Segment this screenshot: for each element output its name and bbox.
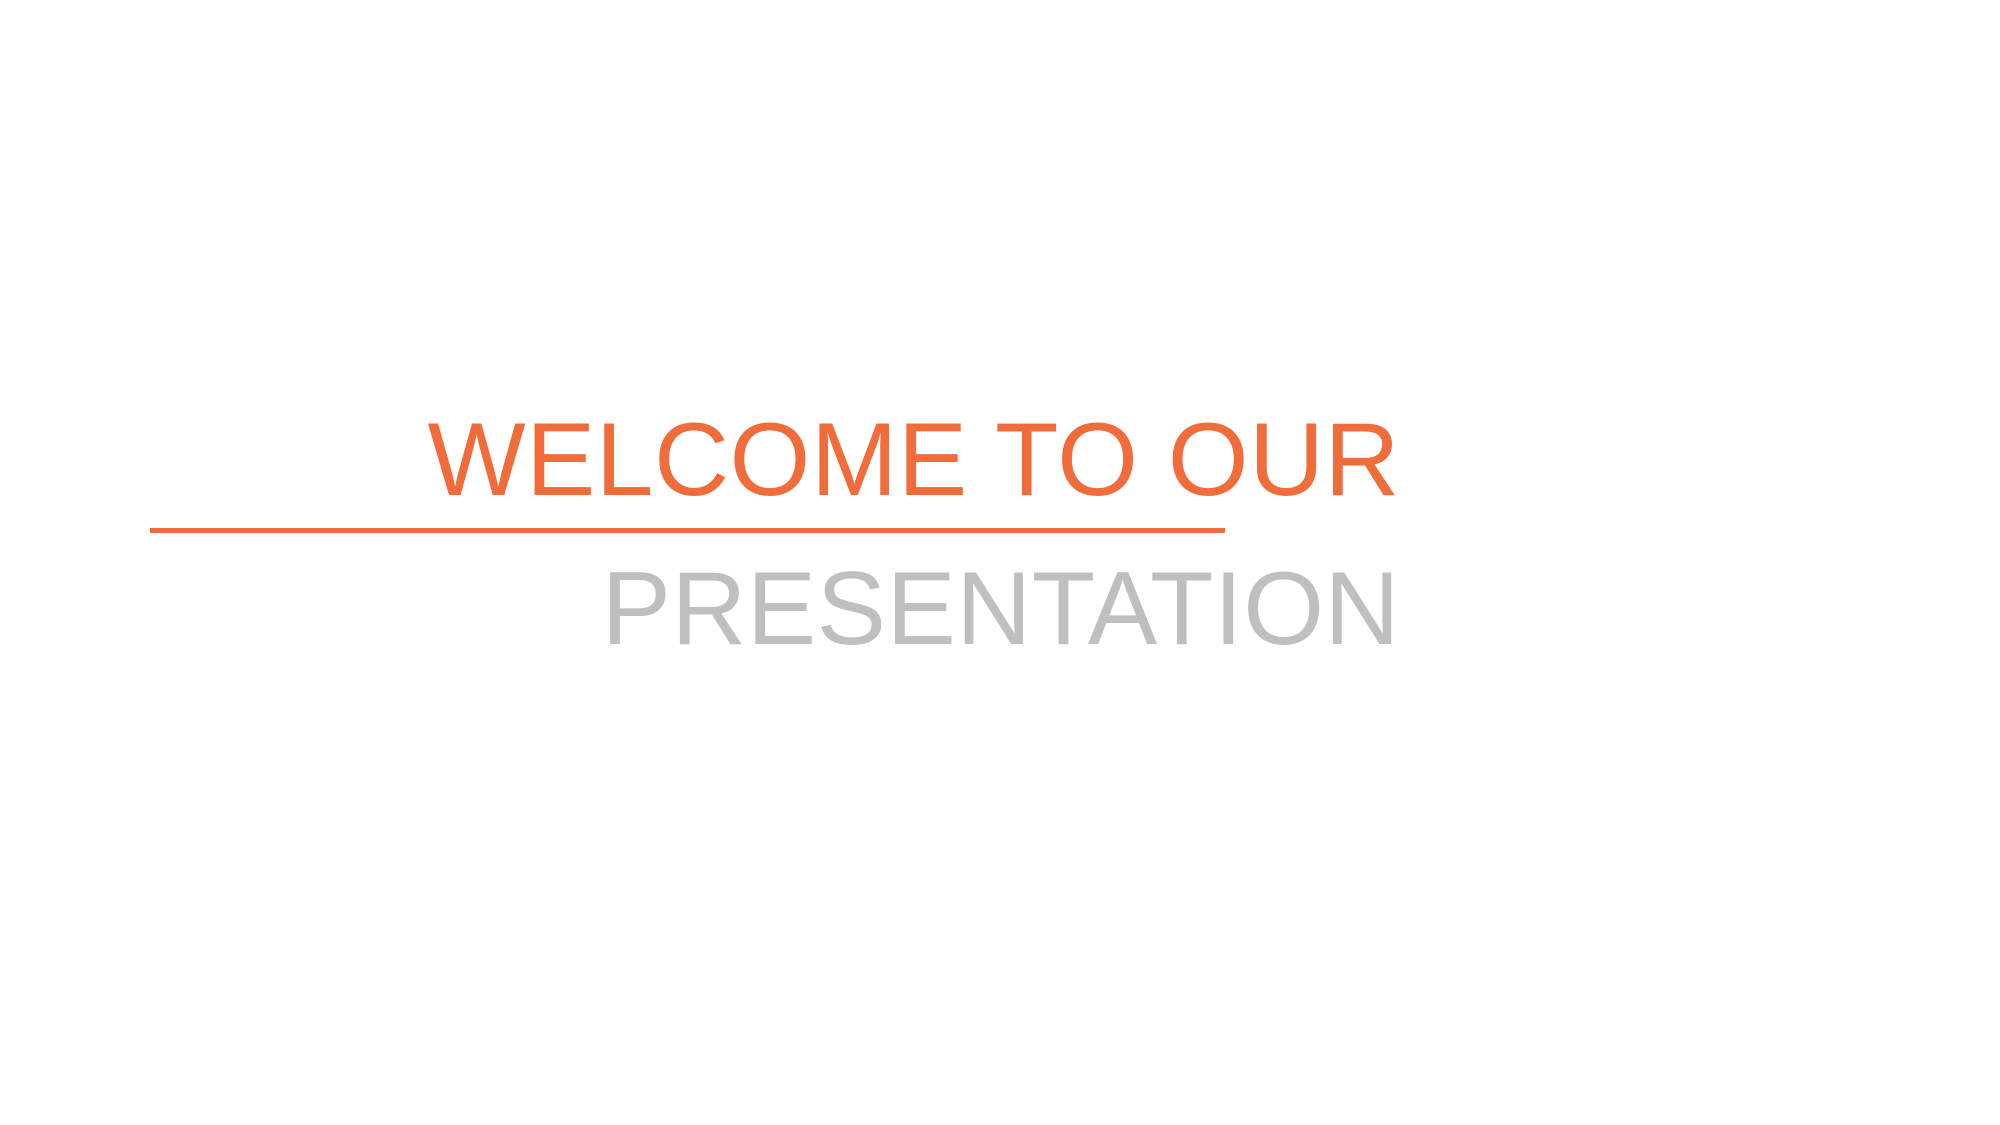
slide-canvas: WELCOME TO OUR PRESENTATION <box>0 0 2000 1125</box>
title-line-secondary: PRESENTATION <box>0 557 1400 661</box>
title-block: WELCOME TO OUR PRESENTATION <box>0 0 1400 1125</box>
title-line-primary: WELCOME TO OUR <box>0 408 1400 512</box>
accent-rule <box>150 528 1225 533</box>
